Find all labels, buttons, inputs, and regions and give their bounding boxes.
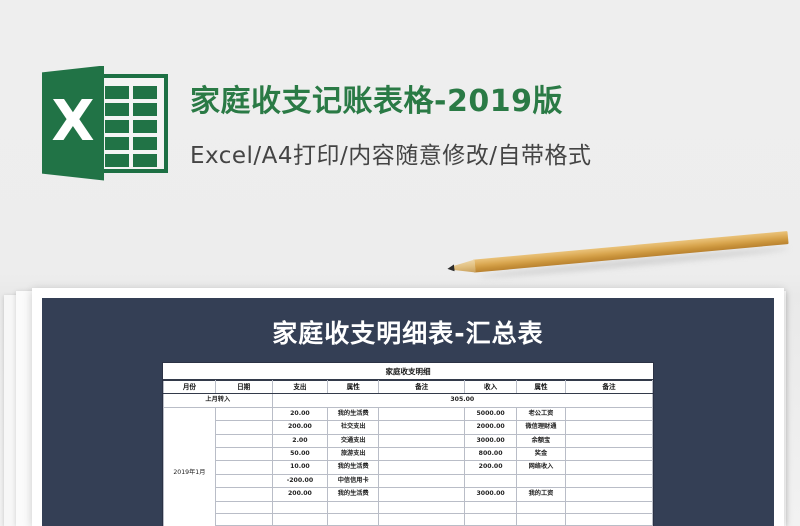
table-row[interactable] (164, 501, 653, 513)
cell-income-attr[interactable] (517, 514, 566, 526)
cell-expense[interactable]: 200.00 (272, 421, 328, 434)
cell-income-note[interactable] (565, 461, 652, 474)
cell-income[interactable]: 5000.00 (465, 407, 517, 420)
cell-expense[interactable]: 2.00 (272, 434, 328, 447)
cell-income-attr[interactable]: 微信理财通 (517, 421, 566, 434)
cell-expense-attr[interactable]: 社交支出 (328, 421, 379, 434)
cell-expense-note[interactable] (379, 421, 465, 434)
cell-income-note[interactable] (565, 407, 652, 420)
header-text-block: 家庭收支记账表格-2019版 Excel/A4打印/内容随意修改/自带格式 (190, 76, 592, 170)
carry-over-row[interactable]: 上月转入 305.00 (164, 394, 653, 407)
cell-expense[interactable]: 20.00 (272, 407, 328, 420)
spreadsheet[interactable]: 家庭收支明细 月份 日期 支出 属性 备注 收入 (162, 362, 654, 526)
cell-expense-note[interactable] (379, 407, 465, 420)
table-header: 月份 日期 支出 属性 备注 收入 属性 备注 (164, 381, 653, 394)
column-header-income: 收入 (465, 381, 517, 394)
cell-date[interactable] (215, 514, 272, 526)
table-header-row: 月份 日期 支出 属性 备注 收入 属性 备注 (164, 381, 653, 394)
cell-income[interactable]: 800.00 (465, 448, 517, 461)
cell-date[interactable] (215, 474, 272, 487)
cell-expense[interactable] (272, 501, 328, 513)
table-row[interactable] (164, 514, 653, 526)
table-row[interactable]: -200.00中信信用卡 (164, 474, 653, 487)
cell-expense-attr[interactable]: 我的生活费 (328, 407, 379, 420)
cell-expense-attr[interactable] (328, 501, 379, 513)
cell-income[interactable]: 3000.00 (465, 434, 517, 447)
cell-date[interactable] (215, 461, 272, 474)
carry-over-value: 305.00 (272, 394, 652, 407)
cell-expense[interactable] (272, 514, 328, 526)
table-row[interactable]: 50.00旅游支出800.00奖金 (164, 448, 653, 461)
cell-income-attr[interactable] (517, 501, 566, 513)
cell-income[interactable]: 3000.00 (465, 488, 517, 501)
cell-expense[interactable]: -200.00 (272, 474, 328, 487)
column-header-income-attr: 属性 (517, 381, 566, 394)
cell-month[interactable]: 2019年1月 (164, 407, 216, 526)
column-header-date: 日期 (215, 381, 272, 394)
cell-income-attr[interactable]: 余额宝 (517, 434, 566, 447)
table-row[interactable]: 200.00社交支出2000.00微信理财通 (164, 421, 653, 434)
cell-date[interactable] (215, 421, 272, 434)
cell-income[interactable]: 2000.00 (465, 421, 517, 434)
excel-icon-page (97, 74, 168, 173)
page-title: 家庭收支记账表格-2019版 (190, 76, 592, 120)
cell-expense-note[interactable] (379, 461, 465, 474)
column-header-month: 月份 (164, 381, 216, 394)
product-header: X 家庭收支记账表格-2019版 Excel/A4打印/内容随意修改/自带格式 (0, 48, 800, 198)
cell-expense-note[interactable] (379, 514, 465, 526)
cell-income[interactable] (465, 514, 517, 526)
excel-icon: X (42, 66, 168, 181)
cell-income[interactable] (465, 474, 517, 487)
cell-income[interactable] (465, 501, 517, 513)
pencil-icon (446, 221, 797, 298)
cell-expense-attr[interactable]: 我的生活费 (328, 488, 379, 501)
document-title: 家庭收支明细表-汇总表 (42, 314, 774, 350)
pencil-tip (451, 260, 476, 275)
cell-income-note[interactable] (565, 488, 652, 501)
cell-expense-attr[interactable]: 交通支出 (328, 434, 379, 447)
cell-date[interactable] (215, 434, 272, 447)
column-header-expense-note: 备注 (379, 381, 465, 394)
excel-icon-letter: X (51, 94, 94, 150)
cell-income-note[interactable] (565, 501, 652, 513)
cell-income-note[interactable] (565, 448, 652, 461)
cell-income-attr[interactable]: 网络收入 (517, 461, 566, 474)
cell-expense-note[interactable] (379, 488, 465, 501)
cell-date[interactable] (215, 407, 272, 420)
table-body[interactable]: 上月转入 305.00 2019年1月20.00我的生活费5000.00老公工资… (164, 394, 653, 526)
column-header-income-note: 备注 (565, 381, 652, 394)
cell-income-attr[interactable]: 老公工资 (517, 407, 566, 420)
cell-income-attr[interactable]: 奖金 (517, 448, 566, 461)
cell-expense-note[interactable] (379, 501, 465, 513)
cell-income[interactable]: 200.00 (465, 461, 517, 474)
cell-date[interactable] (215, 488, 272, 501)
ledger-table[interactable]: 月份 日期 支出 属性 备注 收入 属性 备注 上月转入 (163, 380, 653, 526)
cell-expense-attr[interactable]: 中信信用卡 (328, 474, 379, 487)
screenshot-root: X 家庭收支记账表格-2019版 Excel/A4打印/内容随意修改/自带格式 … (0, 0, 800, 526)
cell-income-attr[interactable]: 我的工资 (517, 488, 566, 501)
pencil-lead (447, 264, 455, 272)
cell-expense-note[interactable] (379, 434, 465, 447)
cell-expense[interactable]: 10.00 (272, 461, 328, 474)
cell-date[interactable] (215, 501, 272, 513)
sheet-caption: 家庭收支明细 (163, 363, 653, 380)
cell-expense-attr[interactable] (328, 514, 379, 526)
column-header-expense: 支出 (272, 381, 328, 394)
cell-income-note[interactable] (565, 434, 652, 447)
excel-icon-panel: X (42, 66, 104, 181)
cell-income-note[interactable] (565, 514, 652, 526)
excel-icon-grid (105, 86, 157, 168)
cell-income-attr[interactable] (517, 474, 566, 487)
table-row[interactable]: 2019年1月20.00我的生活费5000.00老公工资 (164, 407, 653, 420)
cell-expense-note[interactable] (379, 474, 465, 487)
cell-date[interactable] (215, 448, 272, 461)
carry-over-label: 上月转入 (164, 394, 273, 407)
page-subtitle: Excel/A4打印/内容随意修改/自带格式 (190, 136, 592, 170)
cell-income-note[interactable] (565, 474, 652, 487)
document-preview-card[interactable]: 家庭收支明细表-汇总表 家庭收支明细 月份 日期 支出 属性 备 (32, 288, 784, 526)
cell-expense[interactable]: 200.00 (272, 488, 328, 501)
cell-expense[interactable]: 50.00 (272, 448, 328, 461)
column-header-expense-attr: 属性 (328, 381, 379, 394)
cell-expense-attr[interactable]: 我的生活费 (328, 461, 379, 474)
document-preview-inner: 家庭收支明细表-汇总表 家庭收支明细 月份 日期 支出 属性 备 (42, 298, 774, 526)
cell-income-note[interactable] (565, 421, 652, 434)
cell-expense-note[interactable] (379, 448, 465, 461)
table-row[interactable]: 10.00我的生活费200.00网络收入 (164, 461, 653, 474)
table-row[interactable]: 2.00交通支出3000.00余额宝 (164, 434, 653, 447)
cell-expense-attr[interactable]: 旅游支出 (328, 448, 379, 461)
table-row[interactable]: 200.00我的生活费3000.00我的工资 (164, 488, 653, 501)
